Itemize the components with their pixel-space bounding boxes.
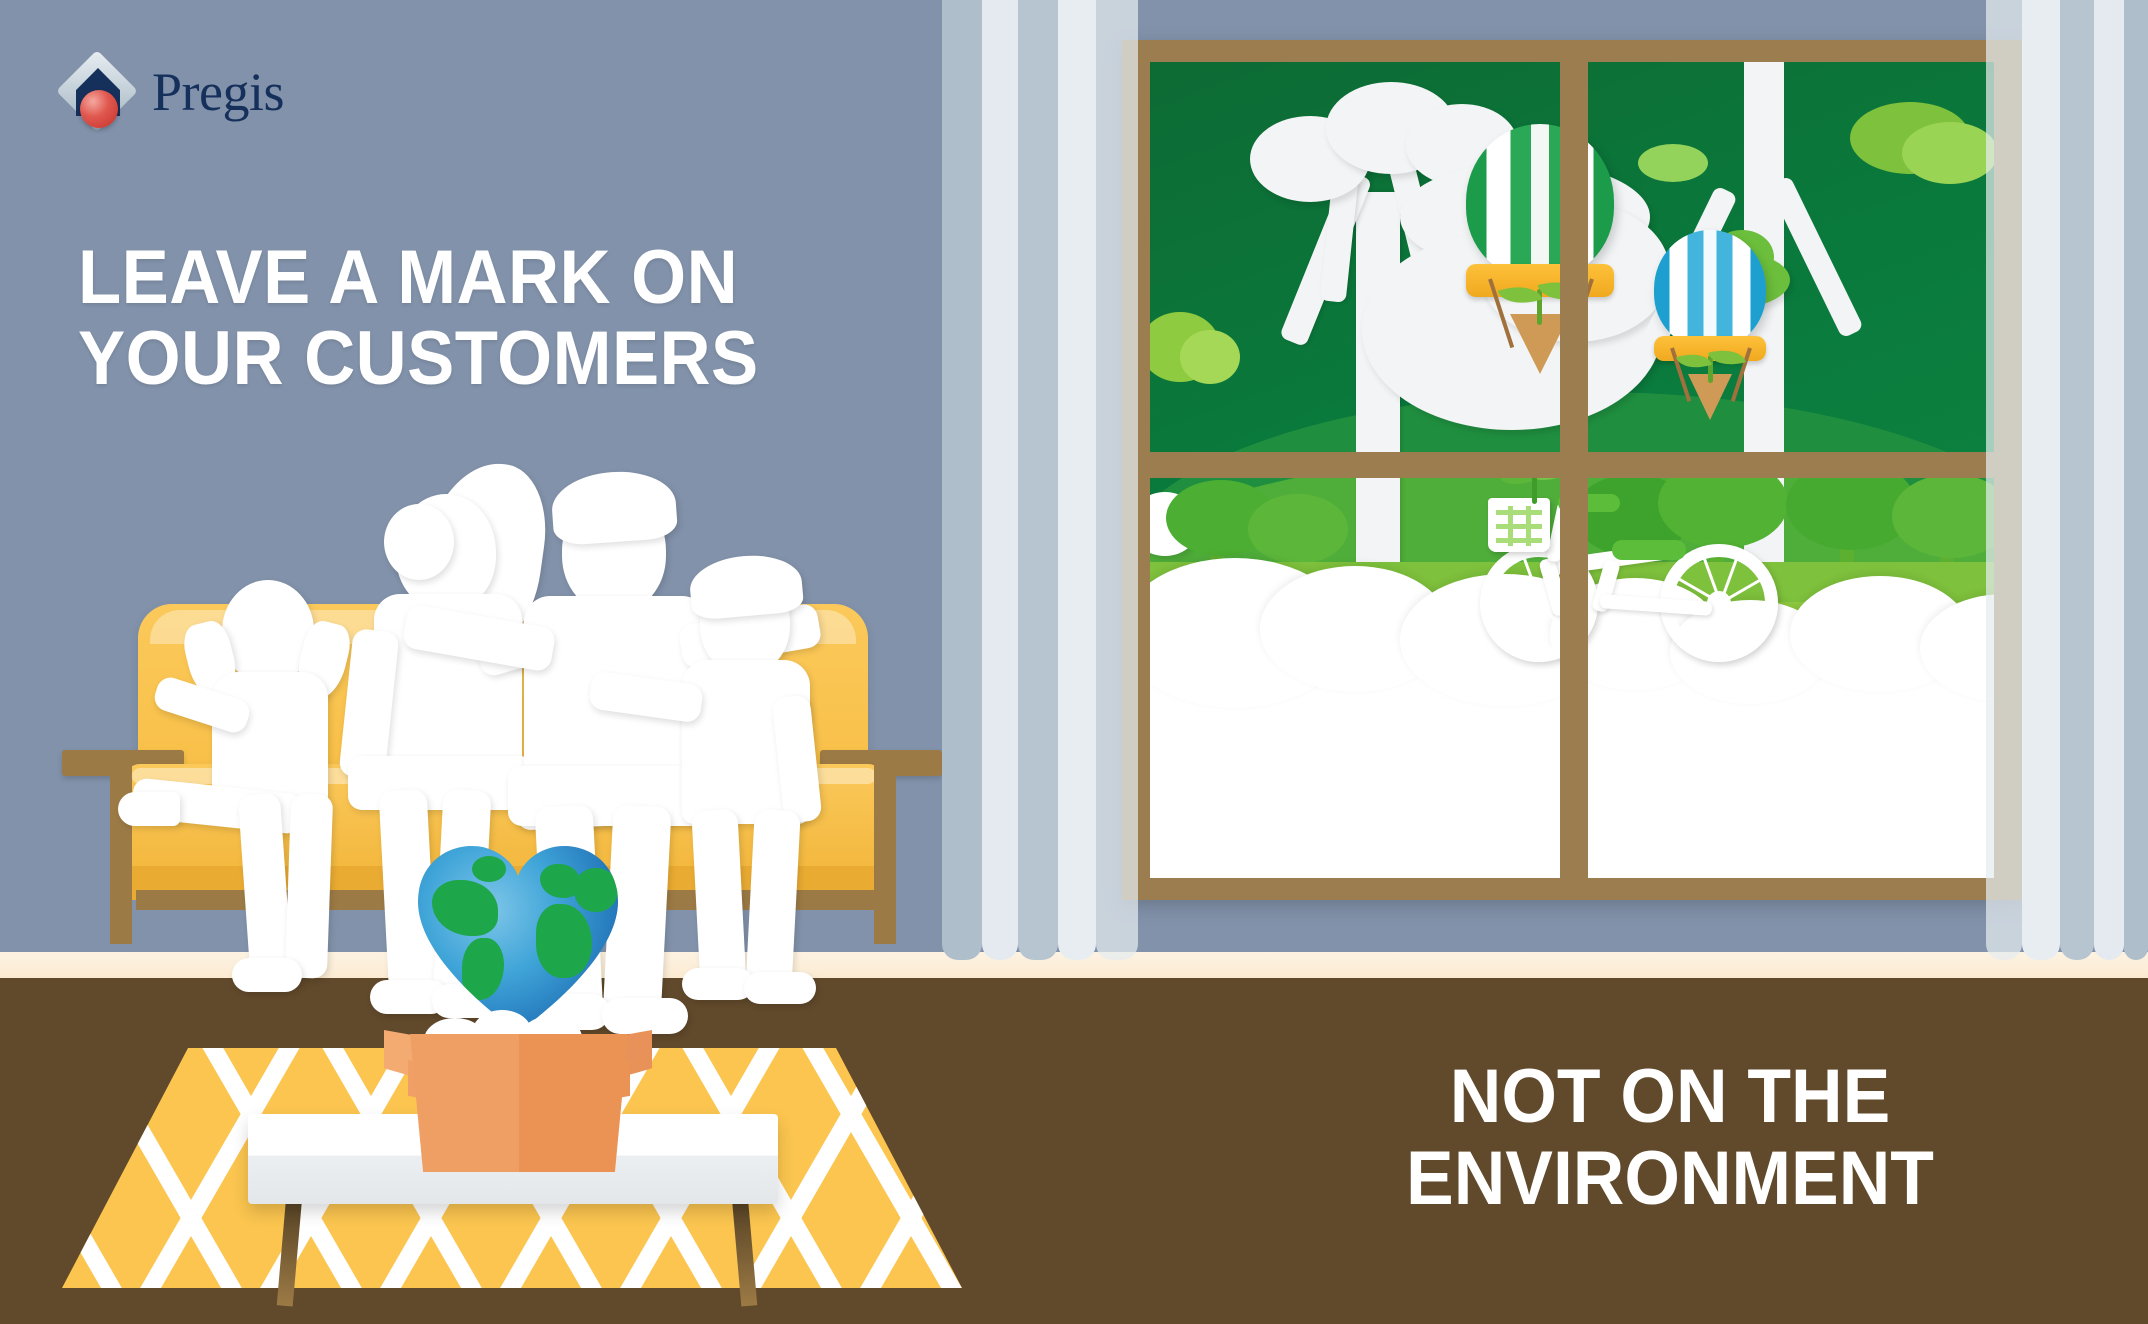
hair (688, 551, 805, 621)
basket-weave (1526, 506, 1531, 546)
pregis-diamond-logo-icon (62, 56, 134, 128)
sofa-leg-left (110, 754, 132, 944)
leg (691, 809, 746, 991)
forest-tree-canopy (1248, 494, 1348, 564)
headline-line-1: LEAVE A MARK ON (78, 238, 859, 319)
bicycle-basket (1488, 498, 1550, 552)
bicycle-seat (1612, 540, 1686, 560)
tree-canopy (1902, 122, 1994, 184)
curtain-left (942, 0, 1138, 960)
curtain-fold (2124, 0, 2148, 960)
foot (232, 958, 302, 992)
foot (118, 792, 180, 826)
continent-north-america (432, 880, 498, 936)
balloon-envelope (1654, 230, 1766, 348)
curtain-fold (942, 0, 982, 960)
leg (745, 809, 801, 995)
bicycle (1480, 492, 1810, 682)
basket-weave (1496, 538, 1542, 543)
hair-bun (384, 504, 454, 580)
wheel-spoke (1719, 603, 1722, 651)
basket-weave (1496, 510, 1542, 515)
continent-asia (574, 868, 618, 912)
basket-weave (1508, 506, 1513, 546)
curtain-fold (1096, 0, 1138, 960)
foot (682, 968, 754, 1000)
wheel-spoke (1539, 603, 1542, 651)
subheadline: NOT ON THE ENVIRONMENT (1240, 1056, 2100, 1220)
balloon-envelope (1466, 124, 1614, 279)
tree-trunk (1356, 192, 1400, 612)
curtain-fold (1018, 0, 1058, 960)
curtain-right (1986, 0, 2148, 960)
box-face-left (410, 1034, 519, 1172)
curtain-fold (982, 0, 1018, 960)
curtain-fold (1058, 0, 1096, 960)
shipping-box (388, 952, 650, 1172)
window-mullion-horizontal (1150, 452, 1994, 478)
curtain-fold (2022, 0, 2060, 960)
sofa-leg-right (874, 754, 896, 944)
person-boy (652, 556, 862, 1004)
foot (744, 972, 816, 1004)
hot-air-balloon-green (1466, 124, 1614, 374)
continent-greenland (472, 856, 506, 882)
headline-line-2: YOUR CUSTOMERS (78, 319, 859, 400)
hot-air-balloon-blue (1654, 230, 1766, 420)
marketing-poster: Pregis LEAVE A MARK ON YOUR CUSTOMERS NO… (0, 0, 2148, 1324)
box-face-right (519, 1034, 628, 1172)
subheadline-line-1: NOT ON THE (1266, 1056, 2074, 1138)
hair (550, 468, 679, 546)
subheadline-line-2: ENVIRONMENT (1266, 1138, 2074, 1220)
curtain-fold (1986, 0, 2022, 960)
green-cloud (1638, 144, 1708, 182)
pregis-logo[interactable]: Pregis (62, 52, 362, 132)
brand-wordmark: Pregis (152, 65, 284, 119)
box-body (410, 1034, 628, 1172)
red-sphere (80, 90, 118, 128)
curtain-fold (2094, 0, 2124, 960)
headline: LEAVE A MARK ON YOUR CUSTOMERS (78, 238, 918, 399)
basket-weave (1496, 524, 1542, 529)
curtain-fold (2060, 0, 2094, 960)
